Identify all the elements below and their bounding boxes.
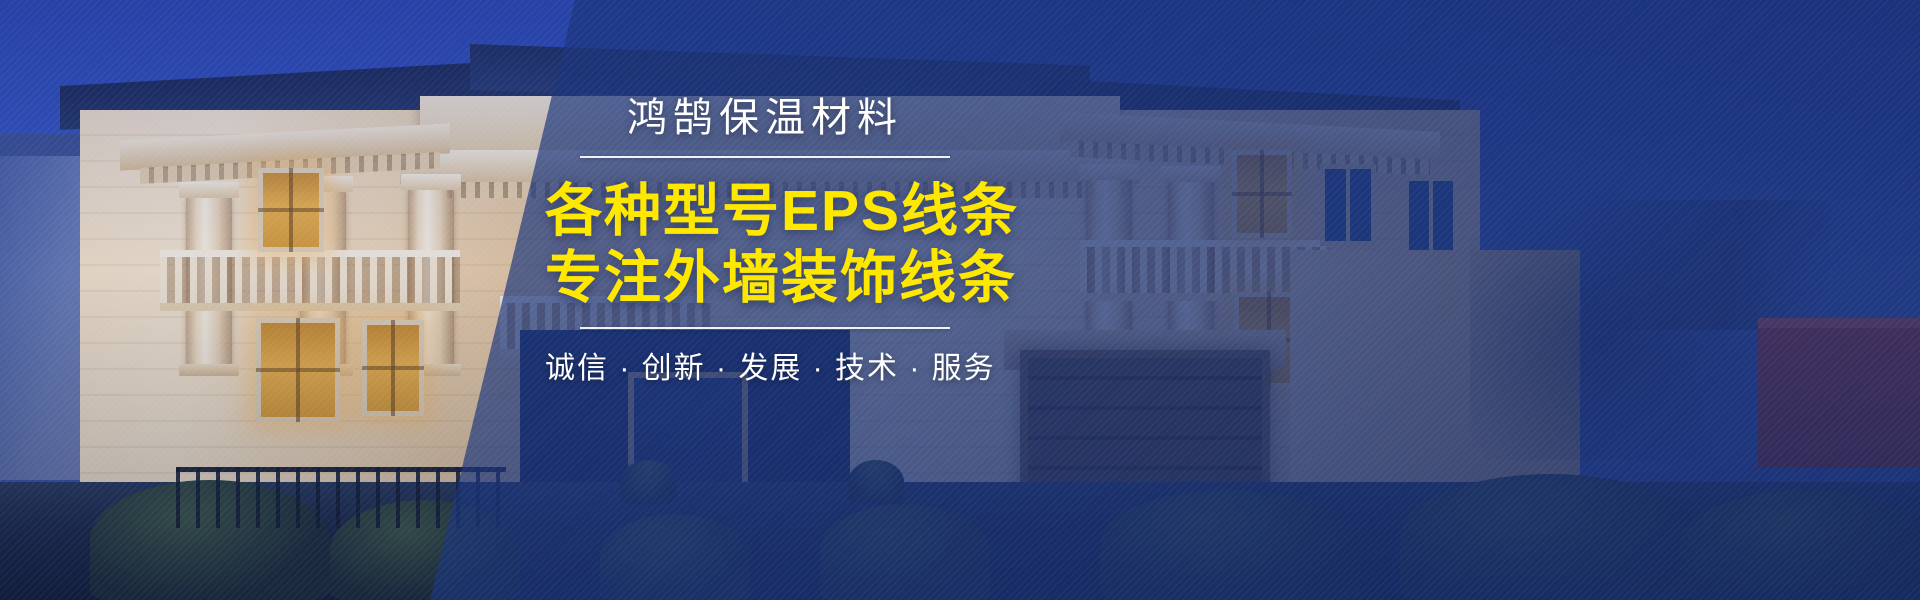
lit-window bbox=[256, 318, 340, 422]
shrub bbox=[1100, 490, 1360, 600]
headline-line-1: 各种型号EPS线条 bbox=[545, 180, 985, 243]
tagline: 诚信 · 创新 · 发展 · 技术 · 服务 bbox=[545, 343, 985, 387]
dark-window bbox=[1404, 176, 1458, 256]
headline-line-2: 专注外墙装饰线条 bbox=[545, 247, 985, 310]
dark-window bbox=[1320, 164, 1376, 246]
hero-banner: 鸿鹄保温材料 各种型号EPS线条 专注外墙装饰线条 诚信 · 创新 · 发展 ·… bbox=[0, 0, 1920, 600]
planter bbox=[848, 460, 904, 504]
balustrade bbox=[160, 250, 460, 311]
tree-branch bbox=[1580, 200, 1830, 330]
divider-bottom bbox=[580, 327, 950, 329]
shrub bbox=[1400, 474, 1700, 600]
shrub bbox=[1680, 490, 1920, 600]
lit-window bbox=[1232, 150, 1292, 238]
planter bbox=[620, 460, 676, 504]
shrub bbox=[600, 514, 750, 600]
lit-window bbox=[258, 168, 324, 252]
banner-copy: 鸿鹄保温材料 各种型号EPS线条 专注外墙装饰线条 诚信 · 创新 · 发展 ·… bbox=[545, 96, 985, 387]
divider-top bbox=[580, 156, 950, 158]
lit-window bbox=[362, 320, 424, 416]
shrub bbox=[820, 504, 990, 600]
red-container bbox=[1758, 318, 1920, 468]
railing bbox=[176, 467, 506, 528]
brand-name: 鸿鹄保温材料 bbox=[545, 96, 985, 140]
